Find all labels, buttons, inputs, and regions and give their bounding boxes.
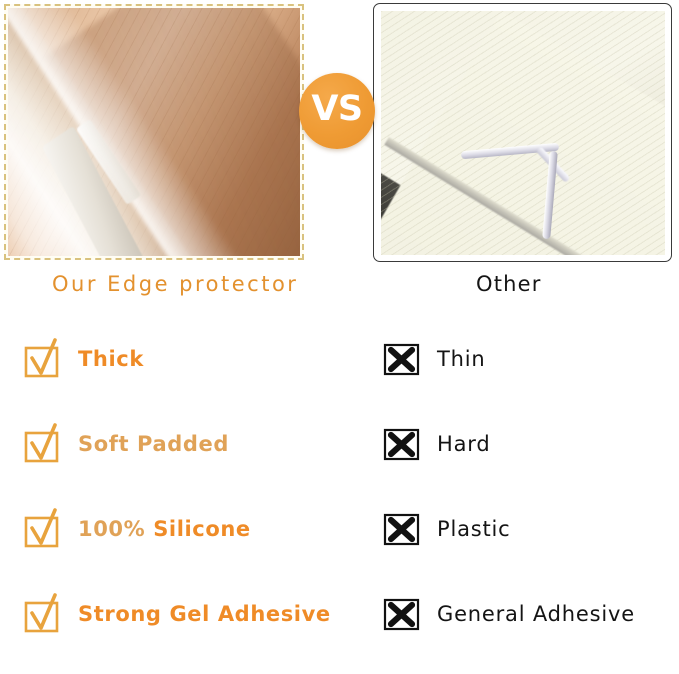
other-feature-cell: Hard [383,419,490,469]
other-feature-cell: General Adhesive [383,589,635,639]
cross-box-icon [383,594,421,634]
check-box-icon [24,339,62,379]
column-headings: Our Edge protector Other [0,272,679,318]
cross-box-icon [383,339,421,379]
our-product-photo-image [8,8,300,256]
other-product-photo-image [381,11,665,255]
our-feature-label: Thick [78,349,144,370]
our-product-photo [4,4,304,260]
our-feature-label: 100% Silicone [78,519,251,540]
comparison-row: Strong Gel Adhesive General Adhesive [0,589,679,674]
our-feature-cell: 100% Silicone [24,504,251,554]
check-box-icon [24,509,62,549]
other-feature-cell: Plastic [383,504,511,554]
photo-comparison-section: VS [0,0,679,268]
cross-box-icon [383,509,421,549]
our-feature-label: Soft Padded [78,434,229,455]
check-box-icon [24,424,62,464]
our-feature-cell: Strong Gel Adhesive [24,589,331,639]
vs-badge: VS [299,73,375,149]
comparison-row: Thick Thin [0,334,679,419]
other-feature-label: Thin [437,349,485,370]
our-feature-text: Strong Gel Adhesive [78,602,331,626]
comparison-row: Soft Padded Hard [0,419,679,504]
heading-our-edge-protector: Our Edge protector [52,272,298,296]
vs-badge-label: VS [311,92,362,130]
feature-comparison-list: Thick Thin Soft Padded [0,334,679,674]
other-feature-cell: Thin [383,334,485,384]
our-feature-prefix: 100% [78,517,153,541]
other-feature-label: Hard [437,434,490,455]
other-feature-label: Plastic [437,519,511,540]
other-feature-label: General Adhesive [437,604,635,625]
our-feature-text: Silicone [153,517,251,541]
our-feature-cell: Soft Padded [24,419,229,469]
check-box-icon [24,594,62,634]
our-feature-label: Strong Gel Adhesive [78,604,331,625]
our-feature-cell: Thick [24,334,144,384]
comparison-row: 100% Silicone Plastic [0,504,679,589]
our-feature-text: Soft Padded [78,432,229,456]
heading-other: Other [476,272,542,296]
our-feature-text: Thick [78,347,144,371]
cross-box-icon [383,424,421,464]
other-product-photo [373,3,672,262]
